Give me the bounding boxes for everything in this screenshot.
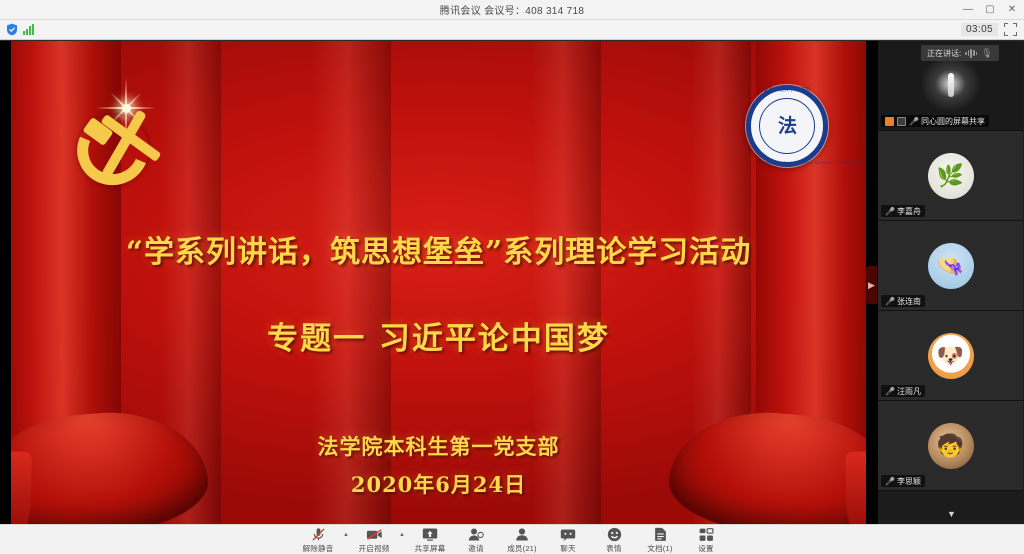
hammer-sickle-icon bbox=[73, 89, 188, 194]
toolbar-item-emoji[interactable]: 表情 bbox=[591, 525, 637, 554]
mic-icon: 🎤 bbox=[885, 477, 894, 486]
toolbar-label: 设置 bbox=[698, 543, 713, 554]
logo-bottom-text: SCHOOL OF LAW ANHUI NORMAL UNIVERSITY bbox=[760, 161, 814, 165]
toolbar-item-chat[interactable]: 聊天 bbox=[545, 525, 591, 554]
audio-wave-icon bbox=[965, 49, 977, 58]
participant-name: 张连南 bbox=[897, 296, 921, 307]
drape-left bbox=[11, 404, 212, 524]
toolbar-item-video[interactable]: 开启视频 bbox=[351, 525, 397, 554]
status-icons bbox=[0, 23, 34, 36]
mic-muted-icon bbox=[311, 527, 326, 542]
drape-right bbox=[665, 404, 866, 524]
participant-name: 同心圆的屏幕共享 bbox=[921, 116, 985, 127]
mic-icon: 🎤 bbox=[885, 297, 894, 306]
participant-nameplate: 🎤 张连南 bbox=[881, 295, 925, 307]
maximize-button[interactable]: ▢ bbox=[980, 1, 1000, 19]
toolbar-item-mute[interactable]: 解除静音 bbox=[295, 525, 341, 554]
mic-icon: 🎙 bbox=[981, 49, 992, 58]
invite-icon bbox=[468, 527, 484, 542]
logo-mark: 法 bbox=[778, 117, 796, 136]
tencent-meeting-window: 腾讯会议 会议号：408 314 718 — ▢ ✕ 03:05 bbox=[0, 0, 1024, 554]
avatar-glyph: 🌿 bbox=[937, 165, 964, 187]
collapse-panel-button[interactable]: ▶ bbox=[866, 266, 877, 304]
window-controls: — ▢ ✕ bbox=[958, 0, 1022, 20]
meeting-stage: 安徽师范大学法学院 法 SCHOOL OF LAW ANHUI NORMAL U… bbox=[0, 41, 1024, 524]
meeting-status-bar: 03:05 bbox=[0, 20, 1024, 40]
toolbar-label: 邀请 bbox=[468, 543, 483, 554]
settings-grid-icon bbox=[699, 527, 714, 542]
toolbar-item-invite[interactable]: 邀请 bbox=[453, 525, 499, 554]
host-badge-icon bbox=[885, 117, 894, 126]
avatar: 🧒 bbox=[928, 423, 974, 469]
toolbar-item-share-screen[interactable]: 共享屏幕 bbox=[407, 525, 453, 554]
participant-name: 汪雨凡 bbox=[897, 386, 921, 397]
toolbar-label: 共享屏幕 bbox=[415, 543, 446, 554]
signal-bars-icon[interactable] bbox=[23, 24, 34, 35]
participant-name: 李思颖 bbox=[897, 476, 921, 487]
toolbar-label: 文档(1) bbox=[647, 543, 672, 554]
avatar-glyph: 🐶 bbox=[937, 345, 964, 367]
participant-tile-2[interactable]: 👒 🎤 张连南 bbox=[878, 221, 1023, 311]
video-options-chevron-up-icon[interactable]: ▲ bbox=[397, 532, 407, 548]
toolbar-item-settings[interactable]: 设置 bbox=[683, 525, 729, 554]
shield-icon[interactable] bbox=[6, 23, 18, 36]
presentation-slide: 安徽师范大学法学院 法 SCHOOL OF LAW ANHUI NORMAL U… bbox=[11, 41, 866, 524]
participant-name: 李嘉舟 bbox=[897, 206, 921, 217]
toolbar-label: 开启视频 bbox=[359, 543, 390, 554]
mic-icon: 🎤 bbox=[909, 117, 918, 126]
toolbar-label: 解除静音 bbox=[303, 543, 334, 554]
screen-share-icon bbox=[422, 527, 438, 542]
logo-top-text: 安徽师范大学法学院 bbox=[760, 87, 814, 93]
toolbar-item-members[interactable]: 成员(21) bbox=[499, 525, 545, 554]
participant-tile-4[interactable]: 🧒 🎤 李思颖 bbox=[878, 401, 1023, 491]
window-title: 腾讯会议 会议号：408 314 718 bbox=[440, 2, 584, 17]
mic-options-chevron-up-icon[interactable]: ▲ bbox=[341, 532, 351, 548]
meeting-timer: 03:05 bbox=[961, 23, 998, 36]
meeting-toolbar: 解除静音 ▲ 开启视频 ▲ bbox=[0, 524, 1024, 554]
participant-nameplate: 🎤 李思颖 bbox=[881, 475, 925, 487]
participant-nameplate: 🎤 汪雨凡 bbox=[881, 385, 925, 397]
toolbar-label: 成员(21) bbox=[507, 543, 537, 554]
participant-tile-3[interactable]: 🐶 🎤 汪雨凡 bbox=[878, 311, 1023, 401]
video-off-icon bbox=[366, 527, 383, 542]
toolbar-label: 聊天 bbox=[560, 543, 575, 554]
emoji-icon bbox=[607, 527, 622, 542]
slide-title-line2: 专题一 习近平论中国梦 bbox=[11, 313, 866, 358]
document-icon bbox=[654, 527, 667, 542]
participant-tile-1[interactable]: 🌿 🎤 李嘉舟 bbox=[878, 131, 1023, 221]
scroll-down-button[interactable]: ▼ bbox=[878, 504, 1024, 524]
chat-icon bbox=[560, 527, 576, 542]
mic-icon: 🎤 bbox=[885, 207, 894, 216]
participant-rail: 正在讲话: 🎙 🎤 同心圆的屏幕共享 🌿 🎤 bbox=[877, 41, 1024, 524]
slide-title-line1: “学系列讲话，筑思想堡垒”系列理论学习活动 bbox=[11, 227, 866, 271]
mic-icon: 🎤 bbox=[885, 387, 894, 396]
speaking-indicator: 正在讲话: 🎙 bbox=[921, 45, 999, 61]
members-icon bbox=[514, 527, 530, 542]
screen-share-icon bbox=[897, 117, 906, 126]
fullscreen-icon[interactable] bbox=[1004, 23, 1017, 36]
university-logo: 安徽师范大学法学院 法 SCHOOL OF LAW ANHUI NORMAL U… bbox=[746, 85, 828, 167]
participant-nameplate: 🎤 李嘉舟 bbox=[881, 205, 925, 217]
participant-nameplate: 🎤 同心圆的屏幕共享 bbox=[881, 115, 989, 127]
title-bar: 腾讯会议 会议号：408 314 718 — ▢ ✕ bbox=[0, 0, 1024, 20]
status-right: 03:05 bbox=[961, 23, 1024, 36]
avatar: 👒 bbox=[928, 243, 974, 289]
shared-screen-area[interactable]: 安徽师范大学法学院 法 SCHOOL OF LAW ANHUI NORMAL U… bbox=[0, 41, 877, 524]
avatar: 🌿 bbox=[928, 153, 974, 199]
toolbar-item-document[interactable]: 文档(1) bbox=[637, 525, 683, 554]
avatar-glyph: 🧒 bbox=[937, 435, 964, 457]
minimize-button[interactable]: — bbox=[958, 1, 978, 19]
toolbar-label: 表情 bbox=[606, 543, 621, 554]
speaking-label: 正在讲话: bbox=[927, 48, 961, 59]
close-button[interactable]: ✕ bbox=[1002, 1, 1022, 19]
avatar: 🐶 bbox=[928, 333, 974, 379]
toolbar-items: 解除静音 ▲ 开启视频 ▲ bbox=[295, 525, 729, 554]
avatar-glyph: 👒 bbox=[937, 255, 964, 277]
